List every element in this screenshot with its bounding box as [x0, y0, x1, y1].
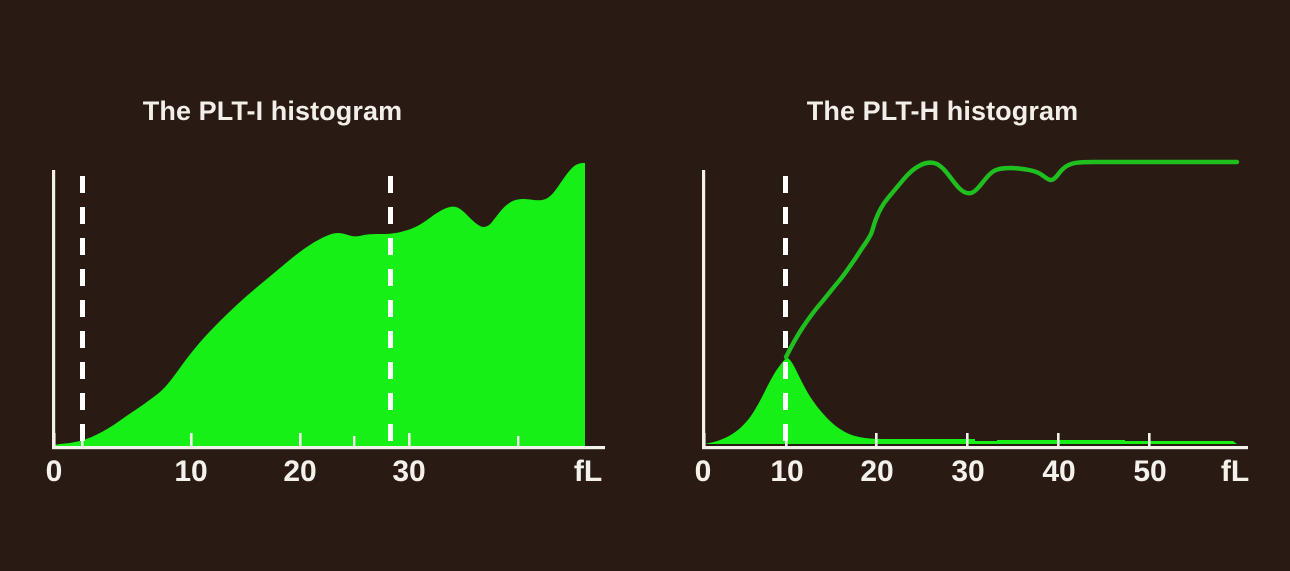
plt-i-x-axis-labels: 0 10 20 30 fL — [0, 452, 645, 492]
plt-i-x-axis — [52, 446, 605, 449]
plt-h-xaxis-unit-label: fL — [1221, 452, 1249, 492]
plt-i-xtick-label-0: 0 — [46, 452, 63, 492]
plt-i-xtick-label-10: 10 — [174, 452, 207, 492]
plt-h-cumulative-curve — [786, 162, 1237, 357]
plt-h-xtick-label-30: 30 — [951, 452, 984, 492]
plt-h-xtick-label-0: 0 — [695, 452, 712, 492]
plt-i-y-axis — [52, 170, 55, 449]
plt-h-chart-panel: The PLT-H histogram — [645, 0, 1290, 571]
chart-canvas: The PLT-I histogram — [0, 0, 1290, 571]
plt-h-xtick-label-20: 20 — [860, 452, 893, 492]
plt-i-xtick-label-30: 30 — [392, 452, 425, 492]
plt-h-xtick-label-50: 50 — [1133, 452, 1166, 492]
plt-h-x-axis-labels: 0 10 20 30 40 50 fL — [645, 452, 1290, 492]
plt-i-xtick-label-20: 20 — [283, 452, 316, 492]
plt-h-xtick-label-10: 10 — [770, 452, 803, 492]
plt-i-area-series — [54, 163, 585, 447]
plt-h-xtick-label-40: 40 — [1042, 452, 1075, 492]
plt-i-chart-panel: The PLT-I histogram — [0, 0, 645, 571]
plt-h-y-axis — [702, 170, 705, 449]
plt-i-xaxis-unit-label: fL — [574, 452, 602, 492]
plt-h-x-axis — [702, 446, 1248, 449]
